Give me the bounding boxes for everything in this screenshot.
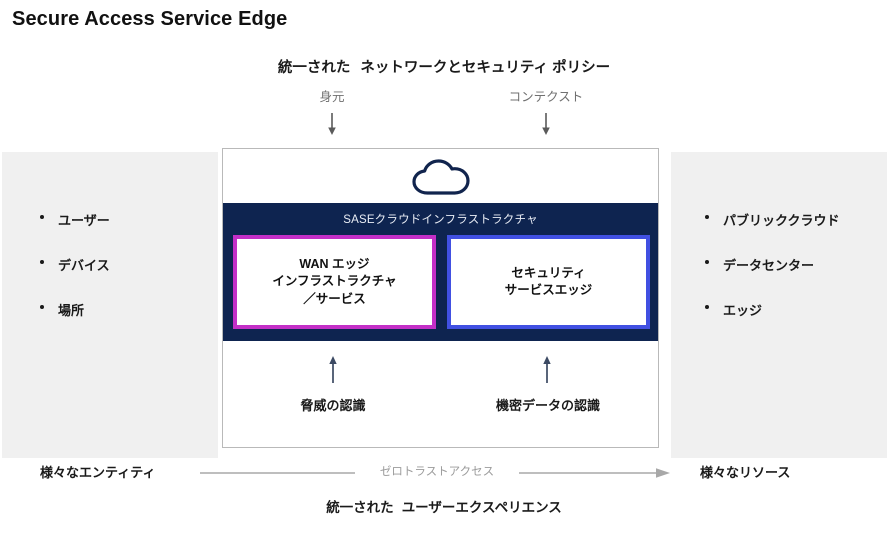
bullet-icon [40,305,44,309]
zero-trust-row: 様々なエンティティ ゼロトラストアクセス 様々なリソース [0,462,888,486]
list-item-label: データセンター [723,258,814,273]
wan-edge-box-text: WAN エッジ インフラストラクチャ ／サービス [266,256,402,308]
security-service-edge-line-1: セキュリティ [511,266,585,280]
policy-sublabel-identity: 身元 [272,86,392,105]
resources-list: パブリッククラウド データセンター エッジ [671,210,887,345]
experience-prefix: 統一された [326,500,394,515]
sase-band-label: SASEクラウドインフラストラクチャ [223,211,658,227]
wan-edge-line-1: WAN エッジ [299,257,369,271]
list-item: データセンター [671,255,887,274]
policy-sublabel-context: コンテクスト [482,86,610,105]
security-service-edge-line-2: サービスエッジ [505,283,593,297]
arrow-down-icon [320,112,344,136]
page-title: Secure Access Service Edge [12,8,287,31]
entities-panel: ユーザー デバイス 場所 [2,152,218,458]
cloud-icon [411,159,471,197]
list-item-label: パブリッククラウド [723,213,839,228]
list-item-label: エッジ [723,303,762,318]
policy-headline-prefix: 統一された [278,60,351,76]
bullet-icon [705,260,709,264]
list-item: パブリッククラウド [671,210,887,229]
experience-main: ユーザーエクスペリエンス [402,500,562,515]
list-item-label: デバイス [58,258,110,273]
unified-user-experience-label: 統一されたユーザーエクスペリエンス [0,496,888,516]
sase-cloud-infrastructure-band: SASEクラウドインフラストラクチャ WAN エッジ インフラストラクチャ ／サ… [223,203,658,341]
wan-edge-box[interactable]: WAN エッジ インフラストラクチャ ／サービス [233,235,436,329]
list-item-label: ユーザー [58,213,110,228]
policy-headline-main: ネットワークとセキュリティ ポリシー [360,60,610,76]
bullet-icon [705,305,709,309]
list-item: ユーザー [2,210,218,229]
threat-awareness-label: 脅威の認識 [253,395,413,414]
wan-edge-line-3: ／サービス [303,292,366,306]
bullet-icon [705,215,709,219]
list-item: デバイス [2,255,218,274]
entities-list: ユーザー デバイス 場所 [2,210,218,345]
sase-center-panel: SASEクラウドインフラストラクチャ WAN エッジ インフラストラクチャ ／サ… [222,148,659,448]
cloud-zone [223,149,658,203]
arrow-up-icon [536,355,558,385]
unified-policy-headline: 統一されたネットワークとセキュリティ ポリシー [0,56,888,77]
resources-label: 様々なリソース [700,462,790,481]
security-service-edge-box[interactable]: セキュリティ サービスエッジ [447,235,650,329]
data-awareness-label: 機密データの認識 [461,395,635,414]
bullet-icon [40,260,44,264]
arrow-up-icon [322,355,344,385]
list-item: 場所 [2,300,218,319]
awareness-zone: 脅威の認識 機密データの認識 [223,341,658,447]
list-item: エッジ [671,300,887,319]
zero-trust-access-label: ゼロトラストアクセス [355,463,519,479]
wan-edge-line-2: インフラストラクチャ [272,274,396,288]
arrow-down-icon [534,112,558,136]
entities-label: 様々なエンティティ [40,462,155,481]
list-item-label: 場所 [58,303,84,318]
bullet-icon [40,215,44,219]
security-service-edge-box-text: セキュリティ サービスエッジ [499,265,599,300]
resources-panel: パブリッククラウド データセンター エッジ [671,152,887,458]
